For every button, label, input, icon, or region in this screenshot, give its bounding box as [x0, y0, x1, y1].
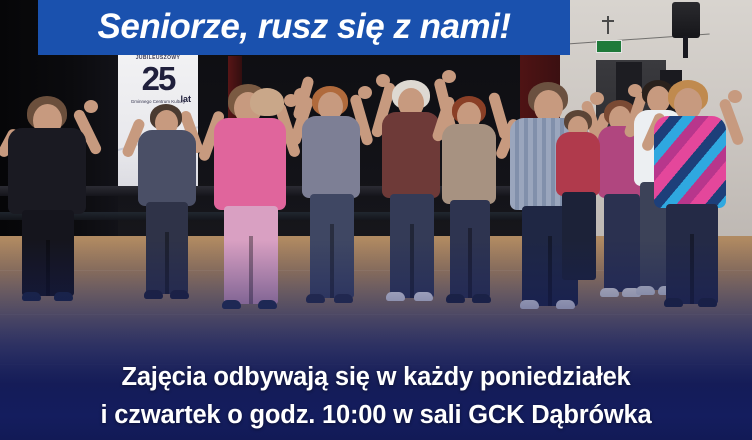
- title-banner: Seniorze, rusz się z nami!: [38, 0, 570, 55]
- cross-icon: [607, 16, 609, 34]
- poster-root: JUBILEUSZOWY 25 lat Gminnego Centrum Kul…: [0, 0, 752, 440]
- exit-sign-icon: [596, 40, 622, 53]
- jubilee-unit: lat: [180, 94, 191, 104]
- caption-line-2: i czwartek o godz. 10:00 w sali GCK Dąbr…: [0, 396, 752, 434]
- poster-title: Seniorze, rusz się z nami!: [98, 9, 511, 47]
- schedule-caption: Zajęcia odbywają się w każdy poniedziałe…: [0, 358, 752, 434]
- caption-line-1: Zajęcia odbywają się w każdy poniedziałe…: [0, 358, 752, 396]
- speaker-icon: [672, 2, 700, 38]
- jubilee-number: 25: [118, 61, 198, 97]
- speaker-mount: [683, 36, 688, 58]
